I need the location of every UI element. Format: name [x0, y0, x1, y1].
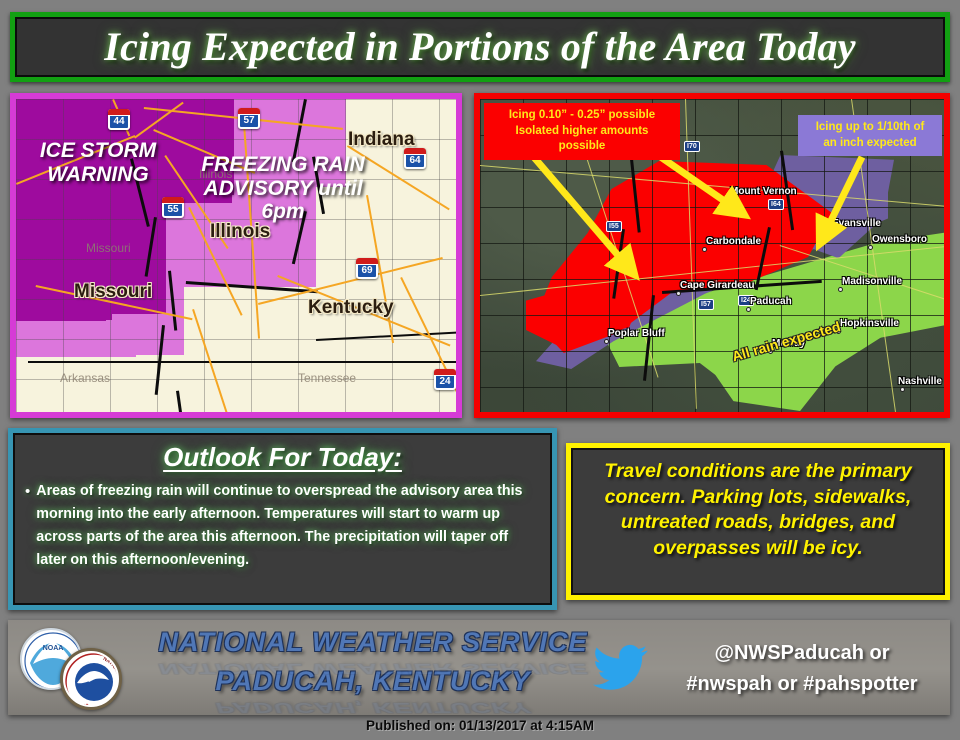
red-callout-box: Icing 0.10” - 0.25” possible Isolated hi… — [484, 103, 680, 160]
svg-text:NOAA: NOAA — [43, 645, 64, 652]
footer-bar: NOAA NATIONAL WEATHER SERVICE — [8, 620, 950, 715]
state-label-arkansas: Arkansas — [60, 371, 110, 385]
city-dot — [702, 247, 707, 252]
city-label-paducah: Paducah — [750, 296, 792, 307]
nws-seal-ring: NATIONAL WEATHER SERVICE — [65, 653, 117, 705]
state-label-missouri-faint: Missouri — [86, 241, 131, 255]
state-label-kentucky: Kentucky — [308, 297, 394, 319]
city-label-madisonville: Madisonville — [842, 276, 902, 287]
agency-line-1: NATIONAL WEATHER SERVICE — [158, 628, 588, 657]
city-dot — [868, 245, 873, 250]
city-label-mount-vernon: Mount Vernon — [730, 186, 797, 197]
title-banner: Icing Expected in Portions of the Area T… — [10, 12, 950, 82]
outlook-text: Areas of freezing rain will continue to … — [36, 480, 538, 573]
interstate-shield-i64: I64 — [768, 199, 784, 210]
interstate-shield-i70: I70 — [684, 141, 700, 152]
city-dot — [604, 339, 609, 344]
interstate-shield-i57: I57 — [698, 299, 714, 310]
map-right-canvas: I70 I55 I64 I57 I24 Mount Vernon Carbond… — [480, 99, 944, 412]
nws-logo-icon: NATIONAL WEATHER SERVICE — [60, 648, 122, 710]
ice-storm-warning-label: ICE STORM WARNING — [28, 139, 168, 186]
state-border-ar-tn — [28, 361, 456, 363]
city-dot — [676, 291, 681, 296]
state-label-indiana: Indiana — [348, 129, 415, 151]
interstate-shield-57: 57 — [238, 108, 260, 129]
agency-line-1-reflection: NATIONAL WEATHER SERVICE — [158, 661, 588, 677]
interstate-shield-i55: I55 — [606, 221, 622, 232]
city-label-owensboro: Owensboro — [872, 234, 927, 245]
outlook-panel: Outlook For Today: • Areas of freezing r… — [8, 428, 557, 610]
city-dot — [828, 229, 833, 234]
social-line-1: @NWSPaducah or — [656, 638, 948, 669]
city-dot — [726, 197, 731, 202]
interstate-shield-69: 69 — [356, 258, 378, 279]
twitter-icon[interactable] — [593, 644, 649, 692]
social-line-2: #nwspah or #pahspotter — [656, 669, 948, 700]
state-label-illinois: Illinois — [210, 221, 270, 243]
city-label-carbondale: Carbondale — [706, 236, 761, 247]
state-label-missouri: Missouri — [74, 281, 152, 303]
agency-line-2-reflection: PADUCAH, KENTUCKY — [158, 700, 588, 715]
city-label-hopkinsville: Hopkinsville — [840, 318, 899, 329]
city-label-cape-girardeau: Cape Girardeau — [680, 280, 754, 291]
bullet-marker: • — [23, 480, 36, 573]
page-title: Icing Expected in Portions of the Area T… — [104, 27, 855, 67]
published-timestamp: Published on: 01/13/2017 at 4:15AM — [0, 718, 960, 733]
freezing-rain-advisory-label: FREEZING RAIN ADVISORY until 6pm — [200, 153, 366, 224]
ice-accumulation-map[interactable]: I70 I55 I64 I57 I24 Mount Vernon Carbond… — [474, 93, 950, 418]
outlook-body: • Areas of freezing rain will continue t… — [13, 473, 552, 573]
social-handles: @NWSPaducah or #nwspah or #pahspotter — [656, 638, 948, 700]
city-dot — [746, 307, 751, 312]
weather-graphic: Icing Expected in Portions of the Area T… — [0, 0, 960, 740]
interstate-shield-44: 44 — [108, 109, 130, 130]
travel-warning-panel: Travel conditions are the primary concer… — [566, 443, 950, 600]
purple-callout-box: Icing up to 1/10th of an inch expected — [798, 115, 942, 156]
no-headline-southwest — [136, 355, 456, 412]
state-label-tennessee: Tennessee — [298, 371, 356, 385]
city-label-nashville: Nashville — [898, 376, 942, 387]
travel-text: Travel conditions are the primary concer… — [571, 448, 945, 562]
interstate-shield-55: 55 — [162, 197, 184, 218]
city-dot — [838, 287, 843, 292]
city-label-poplar-bluff: Poplar Bluff — [608, 328, 665, 339]
interstate-shield-64: 64 — [404, 148, 426, 169]
city-dot — [900, 387, 905, 392]
watch-warning-map[interactable]: 44 57 55 64 69 24 Illinois Missouri Arka… — [10, 93, 462, 418]
agency-name-block: NATIONAL WEATHER SERVICE NATIONAL WEATHE… — [158, 628, 588, 715]
map-left-canvas: 44 57 55 64 69 24 Illinois Missouri Arka… — [16, 99, 456, 412]
city-label-evansville: Evansville — [832, 218, 881, 229]
interstate-shield-24: 24 — [434, 369, 456, 390]
outlook-title: Outlook For Today: — [13, 433, 552, 473]
